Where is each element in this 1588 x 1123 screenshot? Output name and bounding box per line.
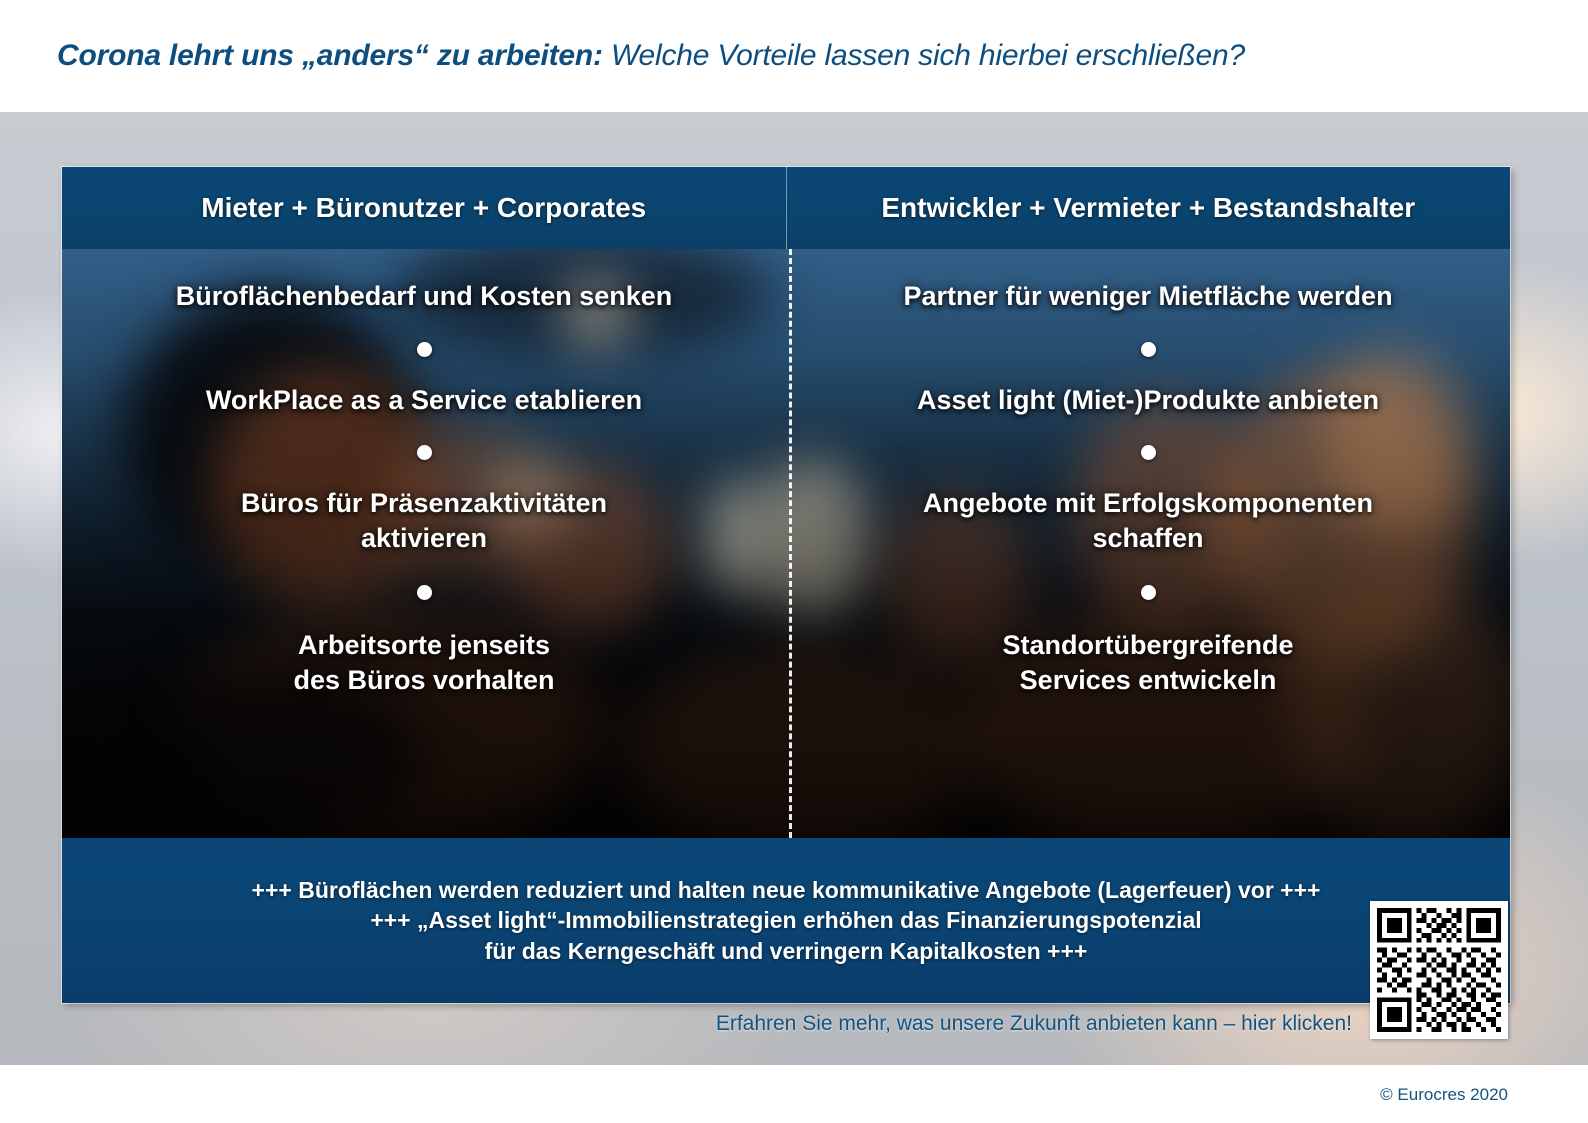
column-headers: Mieter + Büronutzer + Corporates Entwick… [62, 167, 1510, 249]
column-item: Arbeitsorte jenseitsdes Büros vorhalten [269, 628, 578, 697]
qr-code[interactable] [1370, 901, 1508, 1039]
footer-link-wrapper: Erfahren Sie mehr, was unsere Zukunft an… [0, 1012, 1352, 1036]
column-item: Büroflächenbedarf und Kosten senken [152, 279, 697, 314]
column-item: Partner für weniger Mietfläche werden [879, 279, 1416, 314]
column-item: StandortübergreifendeServices entwickeln [978, 628, 1317, 697]
column-tenants: Büroflächenbedarf und Kosten senken Work… [62, 249, 786, 838]
columns-container: Büroflächenbedarf und Kosten senken Work… [62, 249, 1510, 838]
summary-banner-line: +++ Büroflächen werden reduziert und hal… [252, 875, 1321, 905]
bullet-dot-icon [1141, 585, 1156, 600]
copyright-notice: © Eurocres 2020 [0, 1085, 1508, 1105]
column-item: Büros für Präsenzaktivitätenaktivieren [217, 486, 631, 555]
column-developers: Partner für weniger Mietfläche werden As… [786, 249, 1510, 838]
page-title: Corona lehrt uns „anders“ zu arbeiten: W… [57, 39, 1245, 73]
column-header-tenants: Mieter + Büronutzer + Corporates [62, 167, 787, 249]
bullet-dot-icon [417, 342, 432, 357]
bullet-dot-icon [417, 445, 432, 460]
page-title-bar: Corona lehrt uns „anders“ zu arbeiten: W… [0, 0, 1588, 112]
summary-banner: +++ Büroflächen werden reduziert und hal… [62, 838, 1510, 1003]
page-title-strong: Corona lehrt uns „anders“ zu arbeiten: [57, 39, 603, 72]
bullet-dot-icon [417, 585, 432, 600]
bullet-dot-icon [1141, 445, 1156, 460]
column-item: WorkPlace as a Service etablieren [182, 383, 666, 418]
page-title-light: Welche Vorteile lassen sich hierbei ersc… [603, 39, 1245, 72]
column-item: Angebote mit Erfolgskomponentenschaffen [899, 486, 1397, 555]
learn-more-link[interactable]: Erfahren Sie mehr, was unsere Zukunft an… [716, 1012, 1352, 1035]
summary-banner-line: für das Kerngeschäft und verringern Kapi… [485, 936, 1088, 966]
summary-banner-line: +++ „Asset light“-Immobilienstrategien e… [370, 905, 1201, 935]
qr-code-icon [1377, 908, 1501, 1032]
column-item: Asset light (Miet-)Produkte anbieten [893, 383, 1403, 418]
bullet-dot-icon [1141, 342, 1156, 357]
content-panel: Mieter + Büronutzer + Corporates Entwick… [62, 167, 1510, 1003]
column-header-developers: Entwickler + Vermieter + Bestandshalter [787, 167, 1511, 249]
